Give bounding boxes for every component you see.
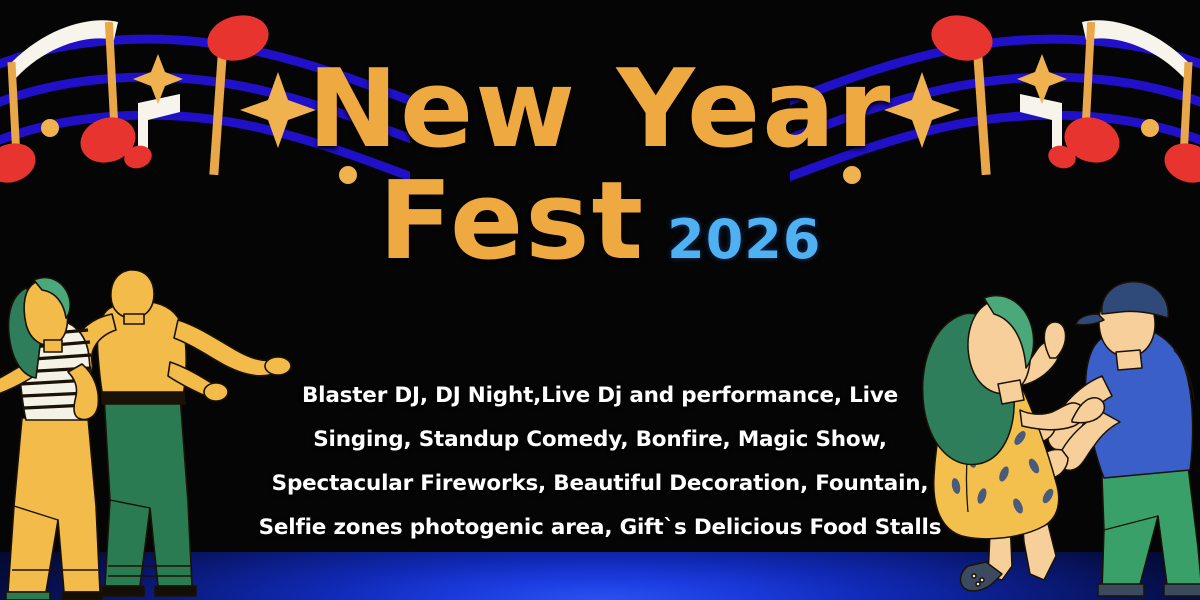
description-line: Blaster DJ, DJ Night,Live Dj and perform…: [220, 374, 980, 418]
poster-canvas: New Year Fest 2026 Blaster DJ, DJ Night,…: [0, 0, 1200, 600]
description-line: Singing, Standup Comedy, Bonfire, Magic …: [220, 418, 980, 462]
poster-title-block: New Year Fest 2026: [0, 58, 1200, 273]
title-line-fest-year: Fest 2026: [0, 170, 1200, 274]
description-line: Spectacular Fireworks, Beautiful Decorat…: [220, 462, 980, 506]
description-line: Selfie zones photogenic area, Gift`s Del…: [220, 506, 980, 550]
title-year-2026: 2026: [667, 213, 821, 267]
event-description-block: Blaster DJ, DJ Night,Live Dj and perform…: [220, 374, 980, 550]
title-word-fest: Fest: [379, 170, 646, 274]
title-line-new-year: New Year: [0, 58, 1200, 162]
